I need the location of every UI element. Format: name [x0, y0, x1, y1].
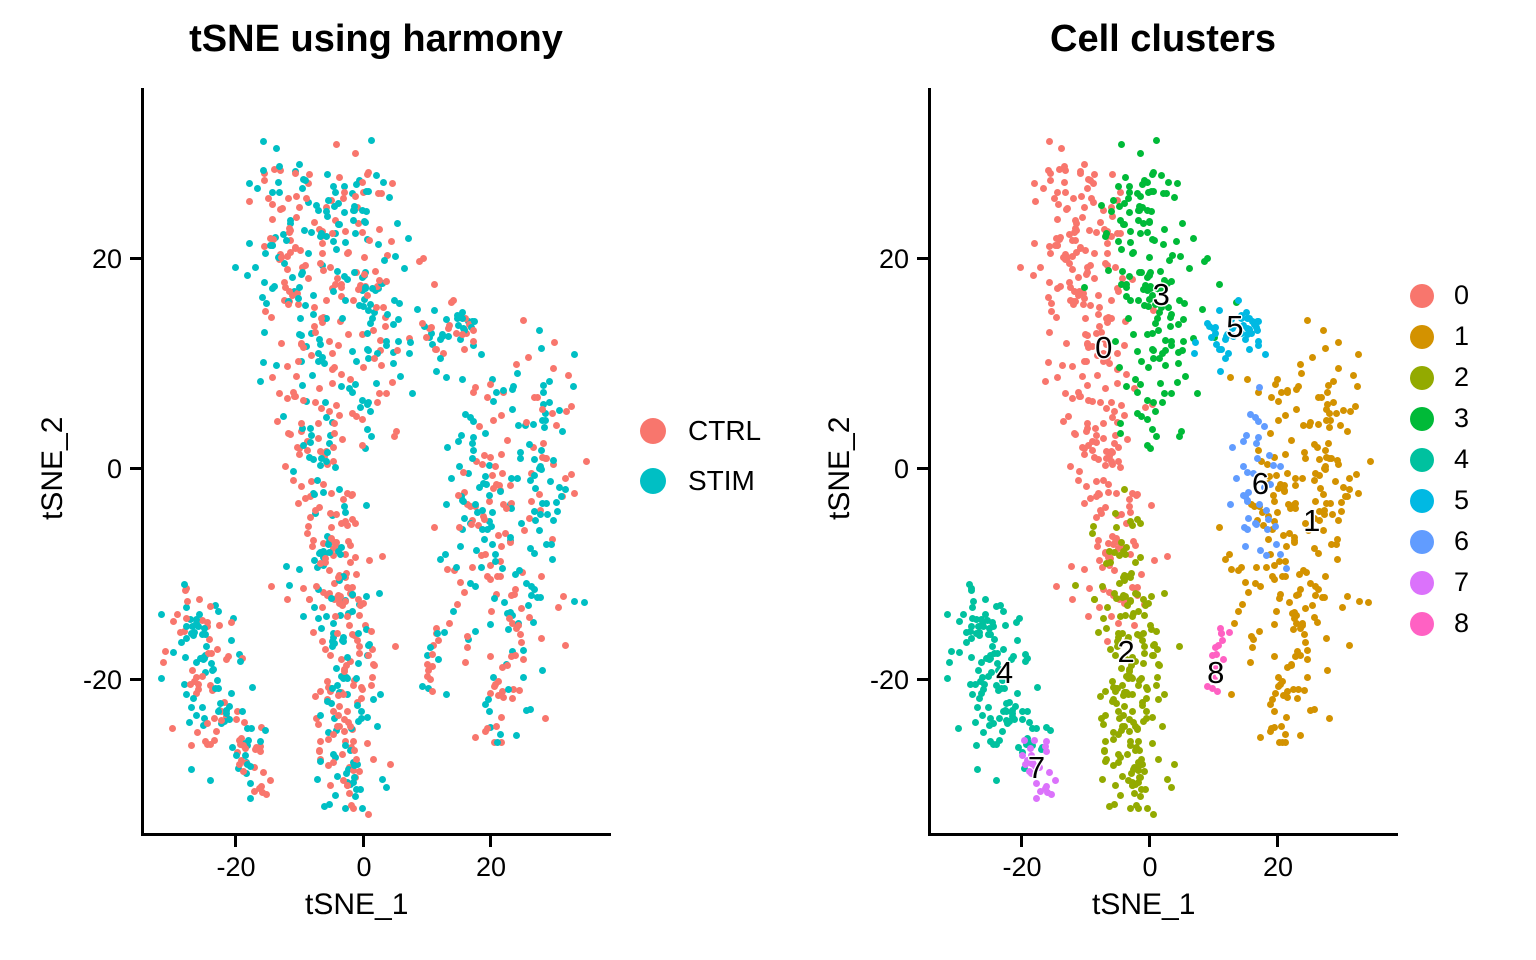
x-axis-title-right: tSNE_1: [1092, 888, 1195, 922]
legend-item-cluster-3[interactable]: 3: [1410, 403, 1469, 434]
cluster-label-4: 4: [996, 655, 1013, 691]
legend-item-cluster-7[interactable]: 7: [1410, 567, 1469, 598]
legend-label-cluster-7: 7: [1454, 567, 1469, 598]
legend-item-cluster-2[interactable]: 2: [1410, 362, 1469, 393]
legend-swatch-cluster-0: [1410, 284, 1434, 308]
legend-swatch-cluster-2: [1410, 366, 1434, 390]
legend-swatch-cluster-3: [1410, 407, 1434, 431]
y-tick-mark: [917, 467, 928, 470]
legend-swatch-cluster-4: [1410, 448, 1434, 472]
cluster-label-8: 8: [1207, 655, 1224, 691]
legend-item-cluster-5[interactable]: 5: [1410, 485, 1469, 516]
legend-label-cluster-6: 6: [1454, 526, 1469, 557]
legend-swatch-cluster-8: [1410, 612, 1434, 636]
legend-swatch-cluster-7: [1410, 571, 1434, 595]
legend-label-cluster-2: 2: [1454, 362, 1469, 393]
figure-root: tSNE using harmony 20 0 -20 -20 0 20 tSN…: [0, 0, 1536, 960]
legend-item-cluster-1[interactable]: 1: [1410, 321, 1469, 352]
cluster-label-5: 5: [1226, 309, 1243, 345]
legend-item-cluster-4[interactable]: 4: [1410, 444, 1469, 475]
legend-item-cluster-8[interactable]: 8: [1410, 608, 1469, 639]
y-tick-label: -20: [817, 665, 909, 696]
legend-item-cluster-0[interactable]: 0: [1410, 280, 1469, 311]
legend-label-cluster-8: 8: [1454, 608, 1469, 639]
panel-cell-clusters: Cell clusters 20 0 -20 -20 0 20 tSNE_1 t…: [0, 0, 1536, 960]
x-tick-mark: [1020, 836, 1023, 847]
x-tick-mark: [1276, 836, 1279, 847]
cluster-label-1: 1: [1303, 503, 1320, 539]
x-tick-label: 0: [1100, 852, 1200, 883]
cluster-label-2: 2: [1117, 634, 1134, 670]
legend-swatch-cluster-5: [1410, 489, 1434, 513]
cluster-label-6: 6: [1252, 466, 1269, 502]
legend-swatch-cluster-1: [1410, 325, 1434, 349]
x-axis-line-right: [928, 833, 1398, 836]
cluster-label-7: 7: [1028, 750, 1045, 786]
legend-label-cluster-3: 3: [1454, 403, 1469, 434]
y-axis-title-right: tSNE_2: [823, 417, 857, 520]
x-tick-label: 20: [1228, 852, 1328, 883]
legend-label-cluster-4: 4: [1454, 444, 1469, 475]
x-tick-mark: [1148, 836, 1151, 847]
panel-title-right: Cell clusters: [928, 18, 1398, 61]
legend-clusters: 012345678: [1410, 280, 1530, 650]
y-tick-label: 20: [817, 244, 909, 275]
cluster-annotation-layer: 012345678: [931, 88, 1398, 833]
legend-item-cluster-6[interactable]: 6: [1410, 526, 1469, 557]
legend-label-cluster-0: 0: [1454, 280, 1469, 311]
cluster-label-0: 0: [1095, 330, 1112, 366]
y-tick-mark: [917, 257, 928, 260]
legend-label-cluster-5: 5: [1454, 485, 1469, 516]
legend-swatch-cluster-6: [1410, 530, 1434, 554]
y-tick-mark: [917, 678, 928, 681]
cluster-label-3: 3: [1153, 277, 1170, 313]
x-tick-label: -20: [972, 852, 1072, 883]
legend-label-cluster-1: 1: [1454, 321, 1469, 352]
